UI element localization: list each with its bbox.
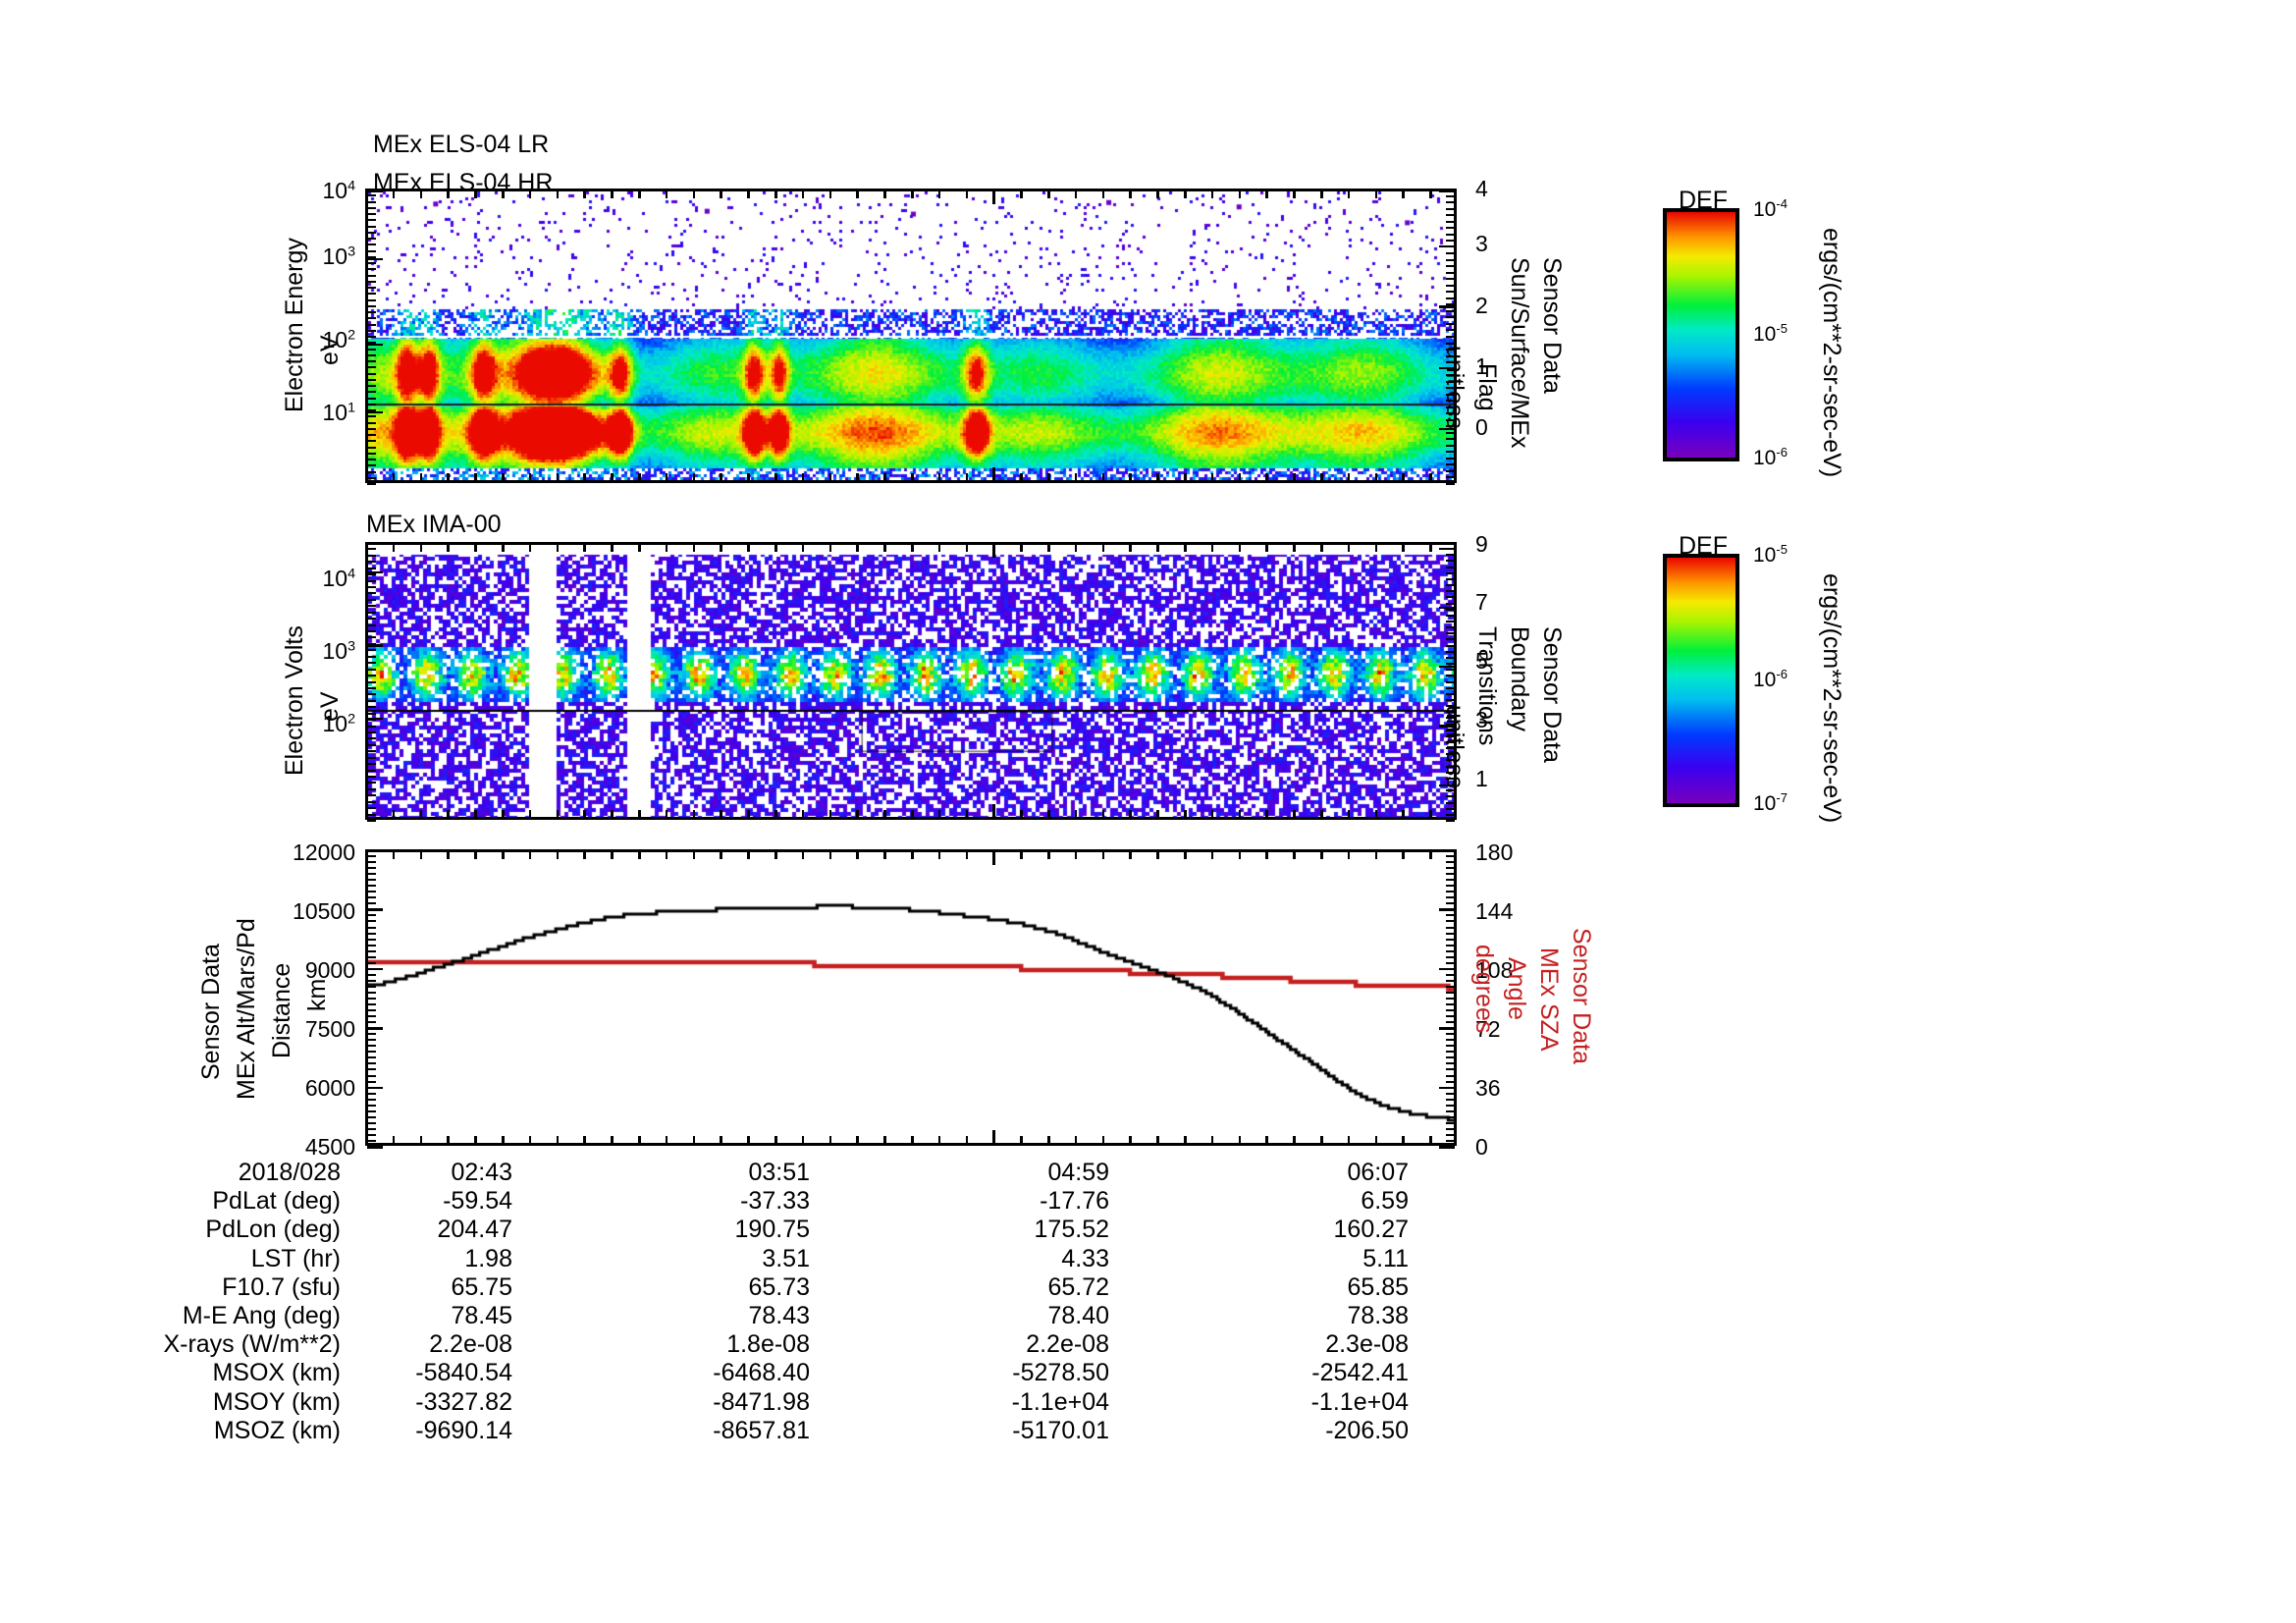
axis-tick — [367, 1009, 376, 1011]
axis-tick — [367, 1039, 376, 1041]
axis-tick — [774, 473, 777, 481]
axis-tick — [367, 770, 376, 772]
axis-tick — [367, 867, 376, 869]
axis-tick — [1446, 867, 1455, 869]
axis-tick — [1446, 1051, 1455, 1053]
table-row-label: M-E Ang (deg) — [59, 1302, 341, 1330]
axis-tick — [529, 810, 532, 818]
axis-tick — [774, 851, 777, 859]
axis-tick — [1446, 717, 1455, 719]
axis-tick — [1446, 1099, 1455, 1101]
axis-tick — [1320, 190, 1323, 198]
axis-tick — [1439, 968, 1455, 971]
axis-tick — [1446, 615, 1455, 617]
axis-tick — [1320, 810, 1323, 818]
axis-tick — [1184, 851, 1187, 859]
axis-tick — [666, 190, 668, 198]
axis-tick — [1446, 753, 1455, 755]
axis-tick — [1446, 438, 1455, 440]
axis-tick — [1446, 355, 1455, 357]
axis-tick — [611, 544, 614, 552]
panel-els-plot[interactable] — [365, 189, 1457, 483]
axis-tick — [1446, 1009, 1455, 1011]
panel-orbit-rtick-5: 0 — [1475, 1134, 1488, 1161]
axis-tick — [367, 675, 376, 676]
axis-tick — [367, 807, 376, 809]
axis-tick — [1446, 400, 1455, 402]
axis-tick — [911, 190, 914, 198]
axis-tick — [1156, 190, 1159, 198]
axis-tick — [1439, 908, 1455, 911]
axis-tick — [367, 447, 376, 449]
axis-tick — [747, 1136, 750, 1144]
table-cell: 4.33 — [942, 1245, 1109, 1273]
axis-tick — [557, 544, 560, 552]
axis-tick — [367, 927, 376, 929]
axis-tick — [693, 851, 696, 859]
axis-tick — [1293, 1136, 1296, 1144]
axis-tick — [367, 580, 376, 582]
axis-tick — [1439, 1146, 1455, 1149]
axis-tick — [829, 544, 832, 552]
axis-tick — [1446, 669, 1455, 671]
axis-tick — [966, 190, 969, 198]
axis-tick — [367, 719, 376, 721]
axis-tick — [1102, 473, 1105, 481]
axis-tick — [1102, 851, 1105, 859]
axis-tick — [1102, 544, 1105, 552]
axis-tick — [367, 939, 376, 941]
axis-tick — [1047, 544, 1050, 552]
axis-tick — [1446, 189, 1455, 190]
axis-tick — [367, 415, 376, 417]
axis-tick — [367, 618, 376, 620]
table-row-label: PdLat (deg) — [59, 1187, 341, 1216]
axis-tick — [393, 544, 396, 552]
axis-tick — [911, 810, 914, 818]
axis-tick — [367, 1033, 376, 1035]
table-row-label: F10.7 (sfu) — [59, 1273, 341, 1302]
axis-tick — [367, 189, 376, 190]
table-cell: 2.2e-08 — [942, 1330, 1109, 1359]
axis-tick — [1446, 214, 1455, 216]
axis-tick — [557, 473, 560, 481]
axis-tick — [1446, 1140, 1455, 1142]
axis-tick — [611, 810, 614, 818]
axis-tick — [529, 544, 532, 552]
axis-tick — [1446, 349, 1455, 351]
axis-tick — [1075, 544, 1078, 552]
axis-tick — [367, 801, 376, 803]
axis-tick — [1075, 190, 1078, 198]
axis-tick — [367, 687, 376, 689]
axis-tick — [367, 232, 376, 234]
axis-tick — [367, 914, 376, 916]
axis-tick — [474, 810, 477, 818]
axis-tick — [1446, 986, 1455, 988]
table-cell: -3327.82 — [346, 1388, 512, 1417]
panel-orbit-ytick-2: 9000 — [216, 957, 355, 984]
axis-tick — [393, 190, 396, 198]
axis-tick — [1446, 381, 1455, 383]
axis-tick — [829, 1136, 832, 1144]
table-cell: 78.40 — [942, 1302, 1109, 1330]
axis-tick — [367, 281, 376, 283]
axis-tick — [938, 810, 941, 818]
axis-tick — [1446, 861, 1455, 863]
axis-tick — [1293, 851, 1296, 859]
axis-tick — [1446, 626, 1455, 628]
axis-tick — [1429, 544, 1432, 552]
axis-tick — [474, 190, 477, 198]
axis-tick — [1446, 265, 1455, 267]
axis-tick — [938, 473, 941, 481]
axis-tick — [367, 1087, 383, 1090]
axis-tick — [666, 544, 668, 552]
panel-ima-title: MEx IMA-00 — [366, 511, 502, 539]
axis-tick — [447, 544, 450, 552]
table-cell: 2.3e-08 — [1242, 1330, 1409, 1359]
axis-tick — [802, 851, 805, 859]
axis-tick — [611, 851, 614, 859]
colorbar-ima-units: ergs/(cm**2-sr-sec-eV) — [1817, 573, 1845, 823]
axis-tick — [367, 342, 376, 344]
axis-tick — [367, 568, 376, 569]
axis-tick — [367, 992, 376, 994]
axis-tick — [1446, 476, 1455, 478]
table-cell: -59.54 — [346, 1187, 512, 1216]
axis-tick — [1446, 201, 1455, 203]
axis-tick — [1446, 1003, 1455, 1005]
axis-tick — [367, 1099, 376, 1101]
axis-tick — [693, 473, 696, 481]
axis-tick — [1446, 1039, 1455, 1041]
axis-tick — [802, 810, 805, 818]
panel-orbit-rtick-0: 180 — [1475, 839, 1513, 866]
axis-tick — [367, 194, 376, 196]
axis-tick — [1446, 445, 1455, 447]
table-cell: 190.75 — [643, 1216, 810, 1244]
panel-els-right-label-1: Sun/Surface/MEx — [1505, 257, 1533, 449]
axis-tick — [1446, 927, 1455, 929]
axis-tick — [1446, 316, 1455, 318]
axis-tick — [367, 731, 376, 733]
axis-tick — [1446, 687, 1455, 689]
axis-tick — [1446, 962, 1455, 964]
axis-tick — [367, 998, 376, 1000]
axis-tick — [1446, 1056, 1455, 1058]
axis-tick — [1446, 343, 1455, 345]
axis-tick — [367, 1110, 376, 1112]
panel-els-rtick-2: 2 — [1475, 293, 1488, 319]
axis-tick — [447, 1136, 450, 1144]
axis-tick — [367, 1081, 376, 1083]
axis-tick — [447, 190, 450, 198]
axis-tick — [367, 542, 376, 544]
axis-tick — [1446, 651, 1455, 653]
table-cell: 04:59 — [942, 1159, 1109, 1187]
axis-tick — [367, 649, 376, 651]
table-cell: -2542.41 — [1242, 1359, 1409, 1387]
axis-tick — [1348, 544, 1351, 552]
axis-tick — [367, 336, 376, 338]
axis-tick — [1375, 473, 1378, 481]
axis-tick — [802, 190, 805, 198]
axis-tick — [774, 810, 777, 818]
axis-tick — [638, 190, 641, 198]
axis-tick — [367, 706, 376, 708]
axis-tick — [1429, 473, 1432, 481]
axis-tick — [367, 1075, 376, 1077]
axis-tick — [367, 1128, 376, 1130]
axis-tick — [774, 544, 777, 552]
axis-tick — [1402, 851, 1405, 859]
axis-tick — [1156, 851, 1159, 859]
table-cell: 1.98 — [346, 1245, 512, 1273]
axis-tick — [367, 908, 383, 911]
colorbar-els-units: ergs/(cm**2-sr-sec-eV) — [1817, 228, 1845, 477]
axis-tick — [992, 804, 995, 818]
table-cell: -6468.40 — [643, 1359, 810, 1387]
table-row-label: LST (hr) — [59, 1245, 341, 1273]
axis-tick — [1446, 855, 1455, 857]
colorbar-els — [1663, 208, 1739, 461]
axis-tick — [583, 851, 586, 859]
axis-tick — [966, 851, 969, 859]
axis-tick — [1446, 808, 1455, 810]
axis-tick — [1446, 920, 1455, 922]
axis-tick — [1446, 885, 1455, 887]
table-cell: -8657.81 — [643, 1417, 810, 1445]
axis-tick — [367, 605, 376, 607]
axis-tick — [1446, 914, 1455, 916]
axis-tick — [1129, 190, 1132, 198]
panel-ima-rtick-9: 9 — [1475, 531, 1488, 558]
axis-tick — [1129, 1136, 1132, 1144]
axis-tick — [992, 467, 995, 481]
axis-tick — [911, 544, 914, 552]
axis-tick — [1446, 802, 1455, 804]
axis-tick — [1047, 1136, 1050, 1144]
table-cell: 65.75 — [346, 1273, 512, 1302]
axis-tick — [1320, 473, 1323, 481]
axis-tick — [1439, 305, 1455, 308]
axis-tick — [1446, 663, 1455, 665]
axis-tick — [583, 1136, 586, 1144]
axis-tick — [1211, 544, 1214, 552]
panel-ima-right-label-1: Boundary — [1505, 626, 1533, 731]
axis-tick — [367, 434, 376, 436]
axis-tick — [393, 810, 396, 818]
axis-tick — [367, 373, 376, 375]
axis-tick — [992, 851, 995, 865]
axis-tick — [1446, 542, 1455, 544]
axis-tick — [1446, 795, 1455, 797]
axis-tick — [367, 656, 376, 658]
table-cell: 78.43 — [643, 1302, 810, 1330]
axis-tick — [365, 467, 368, 481]
table-cell: 78.38 — [1242, 1302, 1409, 1330]
panel-orbit-right-label-0: Sensor Data — [1567, 928, 1595, 1064]
axis-tick — [1375, 190, 1378, 198]
axis-tick — [367, 750, 376, 752]
axis-tick — [1446, 227, 1455, 229]
axis-tick — [693, 544, 696, 552]
axis-tick — [367, 207, 376, 209]
axis-tick — [1446, 956, 1455, 958]
axis-tick — [420, 851, 423, 859]
axis-tick — [1446, 945, 1455, 947]
table-cell: 03:51 — [643, 1159, 810, 1187]
axis-tick — [938, 544, 941, 552]
axis-tick — [856, 1136, 859, 1144]
axis-tick — [367, 293, 376, 295]
axis-tick — [1446, 747, 1455, 749]
table-cell: 65.85 — [1242, 1273, 1409, 1302]
axis-tick — [1446, 933, 1455, 935]
panel-els-rtick-4: 4 — [1475, 176, 1488, 202]
axis-tick — [1446, 1021, 1455, 1023]
axis-tick — [367, 226, 376, 228]
axis-tick — [367, 299, 376, 301]
axis-tick — [367, 262, 376, 264]
axis-tick — [367, 1140, 376, 1142]
axis-tick — [1446, 406, 1455, 408]
axis-tick — [367, 464, 376, 466]
axis-tick — [938, 851, 941, 859]
panel-orbit-ytick-5: 4500 — [216, 1134, 355, 1161]
axis-tick — [1446, 1093, 1455, 1095]
axis-tick — [1211, 851, 1214, 859]
axis-tick — [802, 544, 805, 552]
axis-tick — [1156, 544, 1159, 552]
axis-tick — [1446, 272, 1455, 274]
axis-tick — [1446, 252, 1455, 254]
table-cell: 5.11 — [1242, 1245, 1409, 1273]
axis-tick — [911, 473, 914, 481]
axis-tick — [693, 190, 696, 198]
axis-tick — [1446, 939, 1455, 941]
axis-tick — [367, 737, 376, 739]
axis-tick — [774, 1136, 777, 1144]
axis-tick — [367, 422, 376, 424]
axis-tick — [966, 1136, 969, 1144]
axis-tick — [367, 986, 376, 988]
axis-tick — [1446, 310, 1455, 312]
table-cell: -5170.01 — [942, 1417, 1109, 1445]
axis-tick — [992, 1130, 995, 1144]
axis-tick — [367, 662, 376, 664]
axis-tick — [367, 636, 376, 638]
axis-tick — [1446, 632, 1455, 634]
axis-tick — [1020, 1136, 1023, 1144]
panel-els-ytick-1: 101 — [294, 400, 355, 426]
axis-tick — [529, 1136, 532, 1144]
axis-tick — [1446, 221, 1455, 223]
axis-tick — [1446, 896, 1455, 898]
axis-tick — [1348, 1136, 1351, 1144]
axis-tick — [367, 945, 376, 947]
axis-tick — [393, 473, 396, 481]
axis-tick — [1446, 681, 1455, 683]
panel-ima-right-label-2: Transitions — [1472, 626, 1501, 745]
axis-tick — [1293, 810, 1296, 818]
table-cell: -8471.98 — [643, 1388, 810, 1417]
axis-tick — [393, 851, 396, 859]
axis-tick — [502, 810, 505, 818]
axis-tick — [367, 1021, 376, 1023]
axis-tick — [367, 586, 376, 588]
axis-tick — [1446, 603, 1455, 605]
axis-tick — [367, 256, 376, 258]
axis-tick — [1348, 851, 1351, 859]
axis-tick — [1429, 190, 1432, 198]
axis-tick — [1020, 190, 1023, 198]
axis-tick — [1211, 810, 1214, 818]
axis-tick — [502, 851, 505, 859]
axis-tick — [666, 1136, 668, 1144]
axis-tick — [992, 190, 995, 204]
axis-tick — [1439, 666, 1455, 669]
axis-tick — [747, 544, 750, 552]
axis-tick — [1429, 1136, 1432, 1144]
axis-tick — [1047, 190, 1050, 198]
axis-tick — [1320, 1136, 1323, 1144]
axis-tick — [367, 861, 376, 863]
axis-tick — [1075, 1136, 1078, 1144]
axis-tick — [367, 814, 376, 816]
axis-tick — [1446, 419, 1455, 421]
axis-tick — [1446, 285, 1455, 287]
panel-orbit-plot[interactable] — [365, 849, 1457, 1146]
colorbar-ima-mid-label: 10-6 — [1753, 667, 1788, 692]
axis-tick — [1446, 693, 1455, 695]
axis-tick — [1047, 851, 1050, 859]
axis-tick — [1184, 1136, 1187, 1144]
axis-tick — [1446, 1128, 1455, 1130]
axis-tick — [1446, 278, 1455, 280]
axis-tick — [966, 810, 969, 818]
axis-tick — [1239, 544, 1242, 552]
axis-tick — [1446, 560, 1455, 562]
axis-tick — [883, 1136, 886, 1144]
colorbar-els-top-label: 10-4 — [1753, 196, 1788, 222]
axis-tick — [693, 1136, 696, 1144]
axis-tick — [1446, 425, 1455, 427]
axis-tick — [367, 459, 376, 460]
axis-tick — [938, 190, 941, 198]
axis-tick — [938, 1136, 941, 1144]
axis-tick — [367, 268, 376, 270]
axis-tick — [1446, 609, 1455, 611]
axis-tick — [367, 744, 376, 746]
axis-tick — [1446, 741, 1455, 743]
axis-tick — [1429, 810, 1432, 818]
panel-ima-plot[interactable] — [365, 542, 1457, 820]
axis-tick — [611, 1136, 614, 1144]
panel-els-right-label-0: Sensor Data — [1537, 257, 1566, 394]
axis-tick — [1446, 329, 1455, 331]
table-cell: 204.47 — [346, 1216, 512, 1244]
axis-tick — [638, 1136, 641, 1144]
axis-tick — [1265, 544, 1268, 552]
axis-tick — [856, 473, 859, 481]
axis-tick — [856, 544, 859, 552]
axis-tick — [367, 1062, 376, 1064]
axis-tick — [502, 544, 505, 552]
axis-tick — [1375, 1136, 1378, 1144]
axis-tick — [367, 873, 376, 875]
